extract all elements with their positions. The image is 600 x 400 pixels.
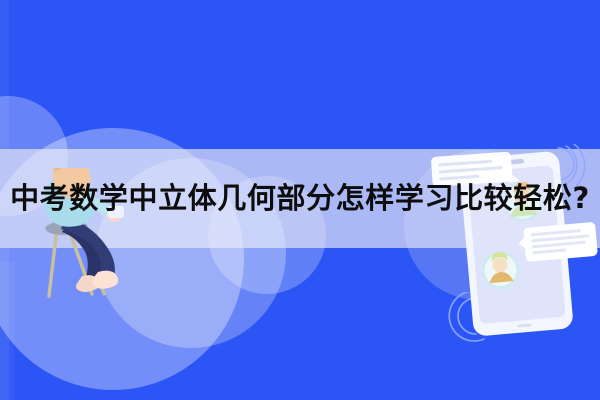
arc-lines-bottom-left-icon <box>446 292 498 344</box>
banner-title: 中考数学中立体几何部分怎样学习比较轻松? <box>0 149 600 248</box>
banner-canvas: 中考数学中立体几何部分怎样学习比较轻松? <box>0 0 600 400</box>
phone-home-indicator <box>517 324 531 328</box>
banner-title-text: 中考数学中立体几何部分怎样学习比较轻松? <box>10 184 590 213</box>
